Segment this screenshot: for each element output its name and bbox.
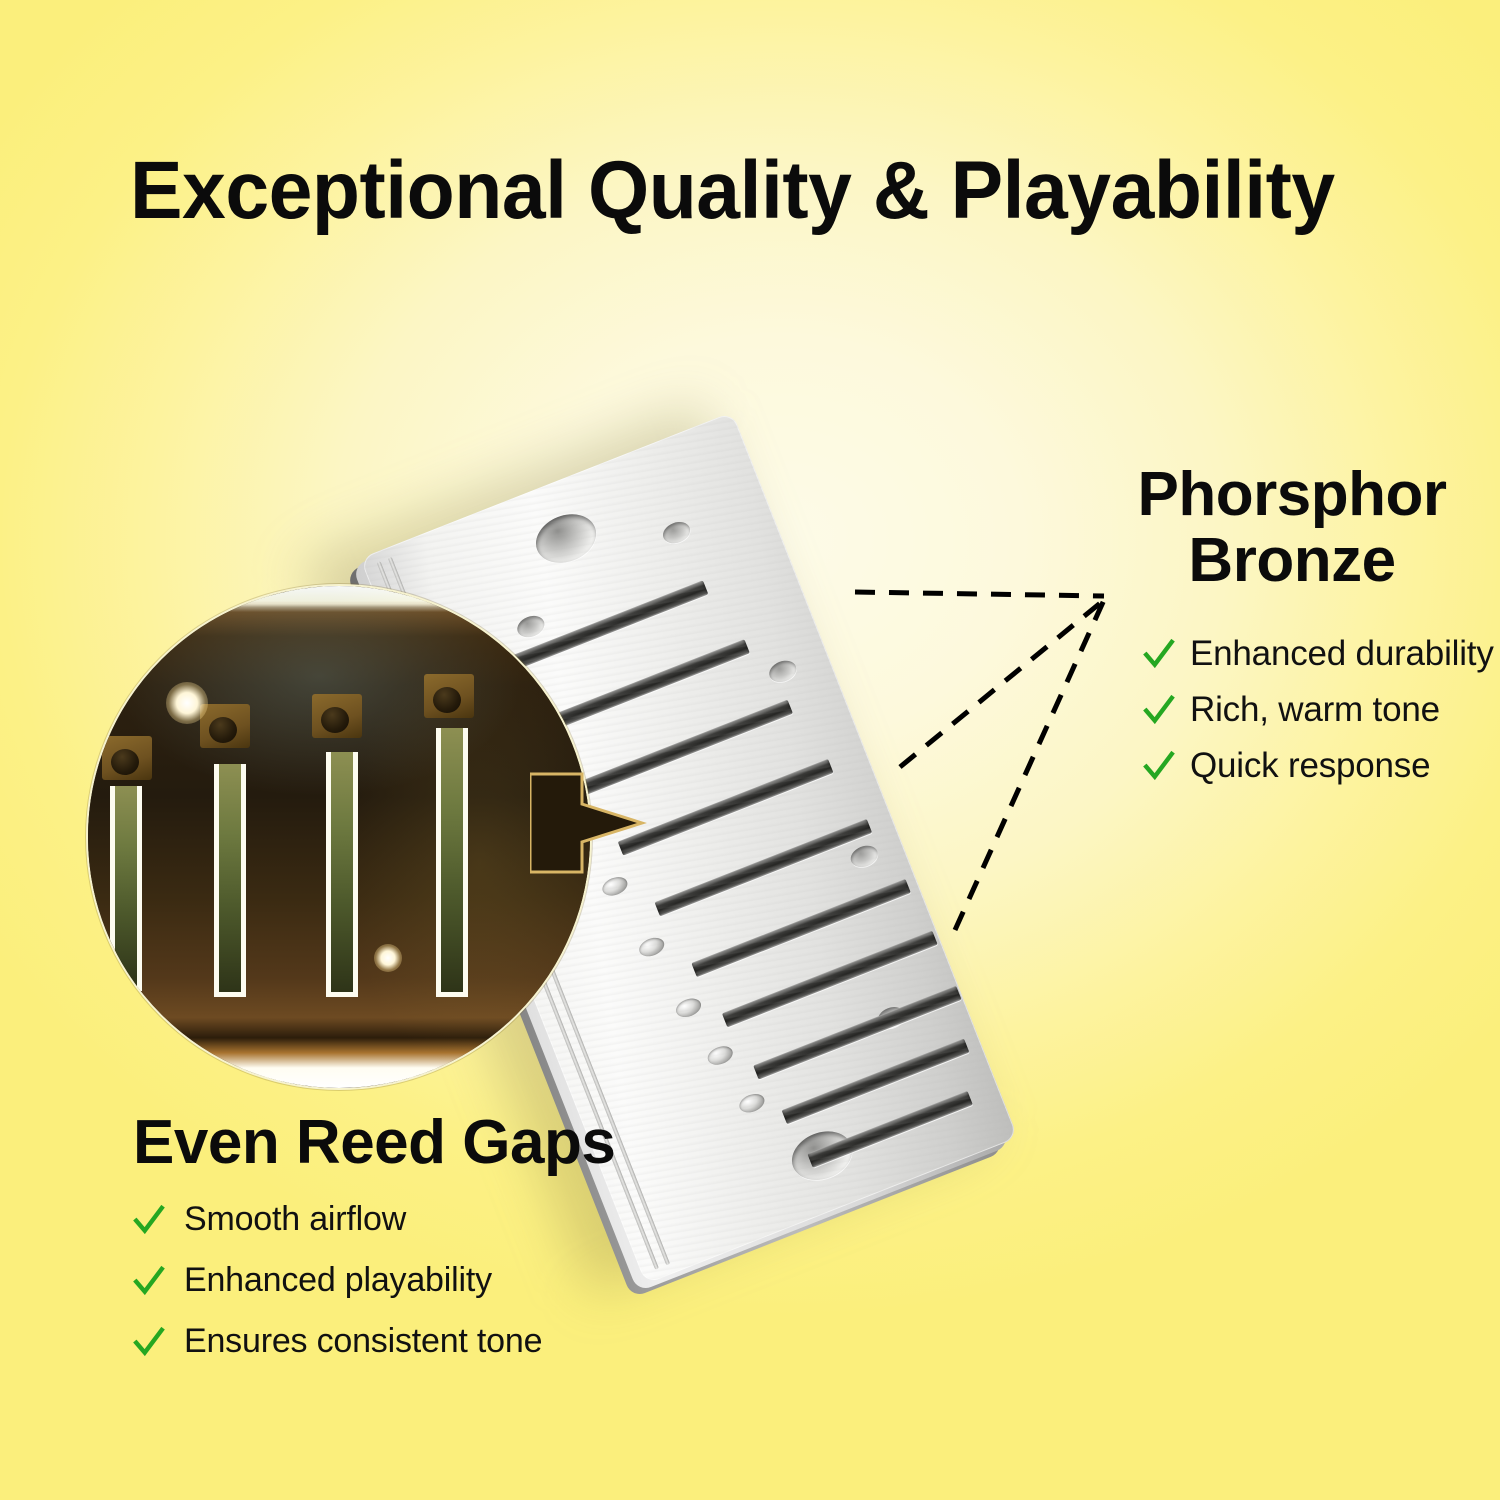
bullet-label: Smooth airflow — [184, 1200, 406, 1239]
list-item: Rich, warm tone — [1142, 690, 1494, 730]
closeup-reed-slot-1 — [110, 786, 142, 991]
bullet-label: Rich, warm tone — [1190, 690, 1440, 730]
closeup-reed-slot-4 — [436, 728, 468, 997]
rivet-6 — [673, 995, 703, 1020]
list-item: Quick response — [1142, 746, 1494, 786]
check-icon — [1142, 749, 1176, 783]
check-icon — [132, 1325, 166, 1359]
rivet-7 — [705, 1043, 735, 1068]
closeup-highlight-2 — [374, 944, 402, 972]
magnifier-pointer-icon — [530, 768, 690, 878]
closeup-rivet-3 — [312, 694, 362, 738]
closeup-reed-slot-2 — [214, 764, 246, 997]
list-item: Enhanced playability — [132, 1261, 542, 1300]
list-item: Ensures consistent tone — [132, 1322, 542, 1361]
rivet-8 — [737, 1091, 767, 1116]
list-item: Smooth airflow — [132, 1200, 542, 1239]
gaps-bullet-list: Smooth airflow Enhanced playability Ensu… — [132, 1200, 542, 1383]
screw-hole-3 — [766, 657, 799, 686]
check-icon — [132, 1203, 166, 1237]
gaps-section-heading: Even Reed Gaps — [133, 1110, 615, 1176]
bullet-label: Ensures consistent tone — [184, 1322, 542, 1361]
closeup-rivet-1 — [102, 736, 152, 780]
check-icon — [1142, 693, 1176, 727]
rivet-5 — [637, 934, 667, 959]
list-item: Enhanced durability — [1142, 634, 1494, 674]
screw-hole-1 — [660, 518, 693, 547]
closeup-rivet-4 — [424, 674, 474, 718]
mounting-hole-top — [529, 506, 604, 572]
check-icon — [132, 1264, 166, 1298]
infographic-canvas: Exceptional Quality & Playability — [0, 0, 1500, 1500]
check-icon — [1142, 637, 1176, 671]
bronze-bullet-list: Enhanced durability Rich, warm tone Quic… — [1142, 634, 1494, 802]
bullet-label: Enhanced durability — [1190, 634, 1494, 674]
bullet-label: Enhanced playability — [184, 1261, 492, 1300]
bronze-section-heading: Phorsphor Bronze — [1112, 462, 1472, 593]
closeup-rivet-2 — [200, 704, 250, 748]
screw-hole-4 — [848, 842, 881, 871]
page-title: Exceptional Quality & Playability — [130, 150, 1335, 232]
closeup-highlight-1 — [166, 682, 208, 724]
reed-gap-magnifier — [86, 584, 592, 1090]
bullet-label: Quick response — [1190, 746, 1430, 786]
magnifier-top-band — [88, 600, 590, 607]
closeup-reed-slot-3 — [326, 752, 358, 997]
